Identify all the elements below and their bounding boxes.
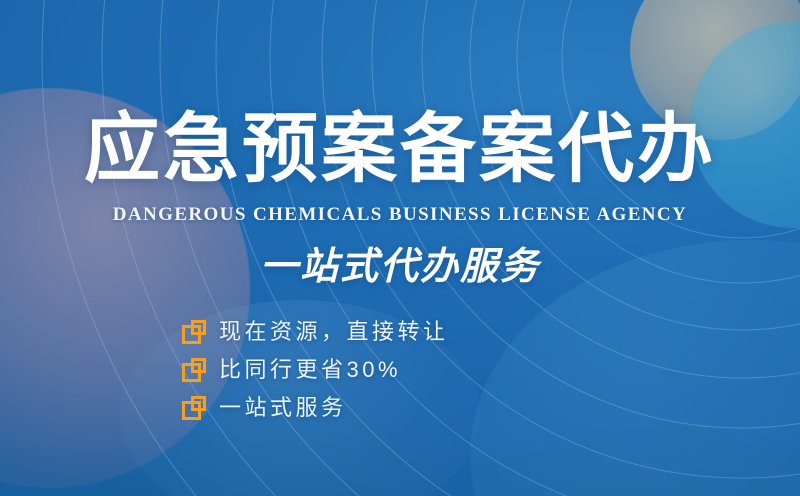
feature-label: 比同行更省30% bbox=[219, 359, 401, 381]
list-item: 现在资源，直接转让 bbox=[182, 316, 449, 347]
feature-label: 一站式服务 bbox=[219, 397, 347, 419]
feature-label: 现在资源，直接转让 bbox=[219, 321, 449, 343]
feature-list: 现在资源，直接转让 比同行更省30% 一站式服务 bbox=[182, 316, 449, 423]
list-item: 比同行更省30% bbox=[182, 354, 449, 385]
banner-content: 应急预案备案代办 DANGEROUS CHEMICALS BUSINESS LI… bbox=[0, 0, 800, 496]
overlapping-squares-icon bbox=[182, 358, 206, 382]
list-item: 一站式服务 bbox=[182, 392, 449, 423]
page-title: 应急预案备案代办 bbox=[0, 112, 800, 188]
promo-banner: 应急预案备案代办 DANGEROUS CHEMICALS BUSINESS LI… bbox=[0, 0, 800, 496]
subtitle: 一站式代办服务 bbox=[0, 244, 800, 290]
overlapping-squares-icon bbox=[182, 320, 206, 344]
english-tagline: DANGEROUS CHEMICALS BUSINESS LICENSE AGE… bbox=[0, 205, 800, 224]
overlapping-squares-icon bbox=[182, 396, 206, 420]
